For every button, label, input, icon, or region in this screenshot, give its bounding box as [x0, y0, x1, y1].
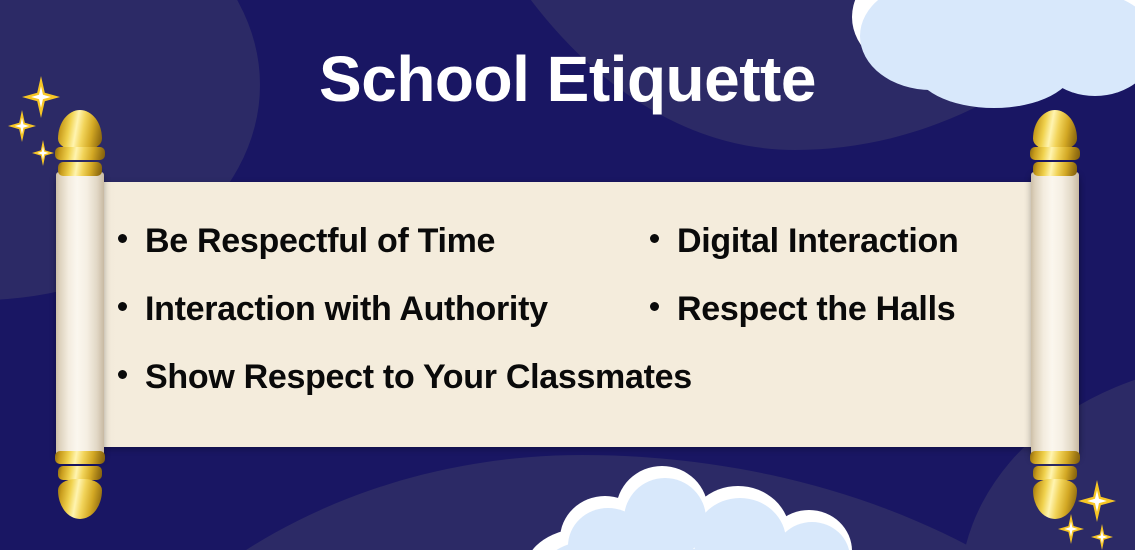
scroll-finial-bottom-left-icon: [51, 451, 109, 517]
list-item: Be Respectful of Time: [118, 222, 678, 290]
list-item-label: Interaction with Authority: [145, 290, 548, 329]
list-item: Respect the Halls: [650, 290, 1050, 358]
list-item: Show Respect to Your Classmates: [118, 358, 678, 426]
scroll-graphic: Be Respectful of Time Interaction with A…: [0, 0, 1135, 550]
scroll-finial-bottom-right-icon: [1026, 451, 1084, 517]
list-item-label: Show Respect to Your Classmates: [145, 358, 692, 397]
bullet-list-left: Be Respectful of Time Interaction with A…: [118, 222, 678, 426]
list-item-label: Digital Interaction: [677, 222, 958, 261]
list-item: Interaction with Authority: [118, 290, 678, 358]
list-item-label: Respect the Halls: [677, 290, 955, 329]
bullet-dot-icon: [650, 234, 659, 243]
scroll-finial-top-right-icon: [1026, 110, 1084, 176]
scroll-rod-left: [56, 172, 104, 457]
bullet-dot-icon: [118, 302, 127, 311]
bullet-list-right: Digital Interaction Respect the Halls: [650, 222, 1050, 358]
bullet-dot-icon: [118, 370, 127, 379]
list-item: Digital Interaction: [650, 222, 1050, 290]
bullet-dot-icon: [650, 302, 659, 311]
bullet-dot-icon: [118, 234, 127, 243]
scroll-finial-top-left-icon: [51, 110, 109, 176]
slide-canvas: School Etiquette Be Respectful of Time I…: [0, 0, 1135, 550]
list-item-label: Be Respectful of Time: [145, 222, 495, 261]
